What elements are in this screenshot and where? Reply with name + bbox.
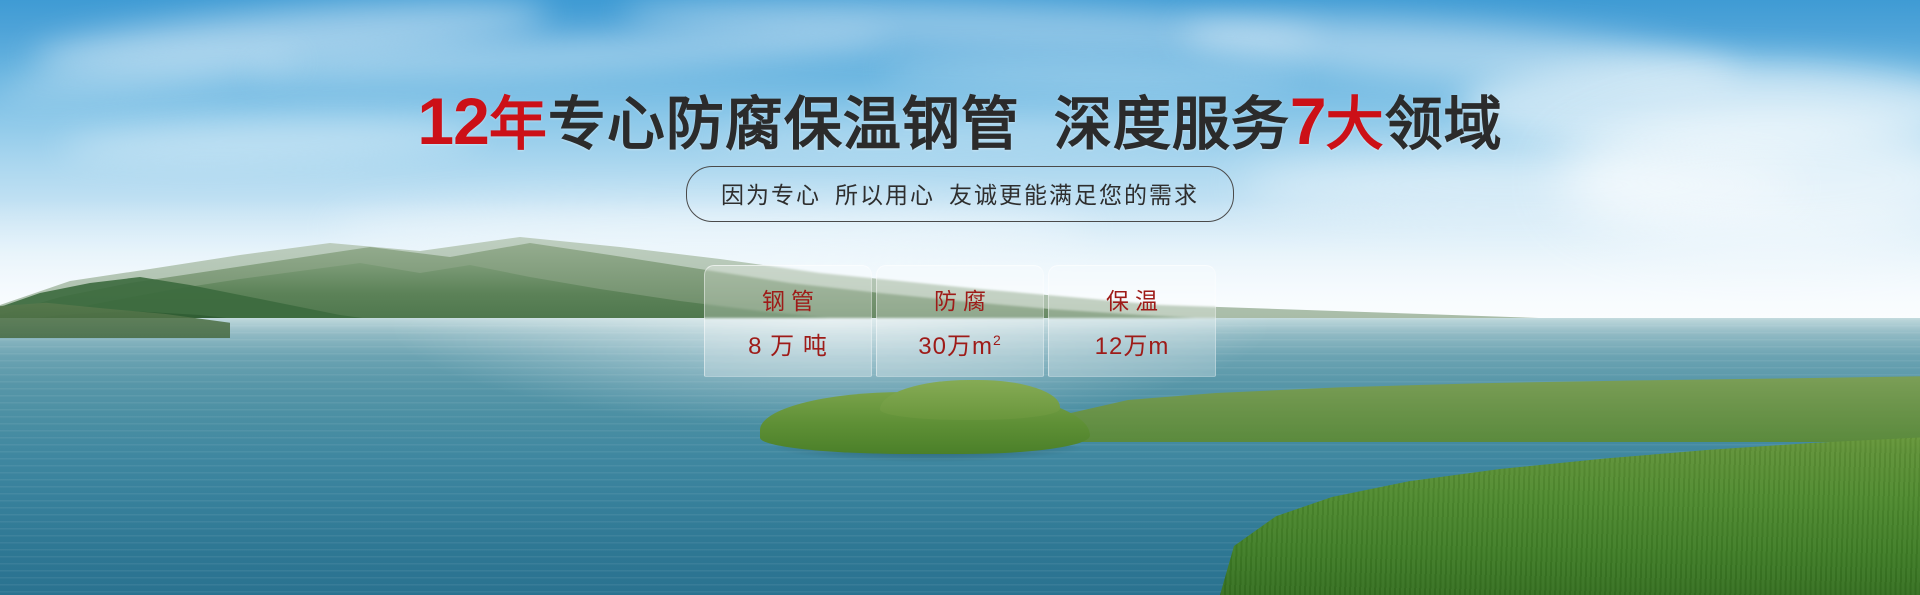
headline-service-text: 深度服务: [1054, 92, 1290, 157]
stat-cards: 钢管 8 万 吨 防腐 30万m2 保温 12万m: [0, 265, 1920, 377]
stat-card-value: 30万m2: [918, 326, 1001, 361]
subtitle-pill: 因为专心所以用心友诚更能满足您的需求: [686, 166, 1234, 222]
subtitle-part-1: 因为专心: [721, 182, 821, 208]
subtitle-container: 因为专心所以用心友诚更能满足您的需求: [0, 166, 1920, 222]
stat-card-steel-pipe[interactable]: 钢管 8 万 吨: [704, 265, 872, 377]
cloud-wisp-icon: [880, 56, 1300, 91]
page-title: 12年专心防腐保温钢管深度服务7大领域: [0, 88, 1920, 154]
headline-main-text: 专心防腐保温钢管: [548, 92, 1020, 157]
stat-card-value: 8 万 吨: [748, 326, 828, 361]
stat-card-insulation[interactable]: 保温 12万m: [1048, 265, 1216, 377]
headline-years-unit: 年: [489, 92, 548, 157]
stat-card-label: 钢管: [756, 282, 820, 316]
stat-card-anticorrosion[interactable]: 防腐 30万m2: [876, 265, 1044, 377]
hero-banner: 12年专心防腐保温钢管深度服务7大领域 因为专心所以用心友诚更能满足您的需求 钢…: [0, 0, 1920, 595]
stat-card-label: 防腐: [928, 282, 992, 316]
stat-card-value: 12万m: [1095, 326, 1170, 361]
headline-fields-big: 大: [1326, 92, 1385, 157]
subtitle-part-3: 友诚更能满足您的需求: [949, 182, 1199, 208]
stat-card-value-text: 8 万 吨: [748, 333, 828, 360]
stat-card-label: 保温: [1100, 282, 1164, 316]
headline-fields-number: 7: [1290, 84, 1326, 158]
stat-card-value-text: 12万m: [1095, 333, 1170, 360]
stat-card-value-text: 30万m: [918, 333, 993, 360]
subtitle-part-2: 所以用心: [835, 182, 935, 208]
headline-fields-text: 领域: [1385, 92, 1503, 157]
headline-years-number: 12: [417, 84, 488, 158]
stat-card-value-superscript: 2: [993, 332, 1002, 348]
